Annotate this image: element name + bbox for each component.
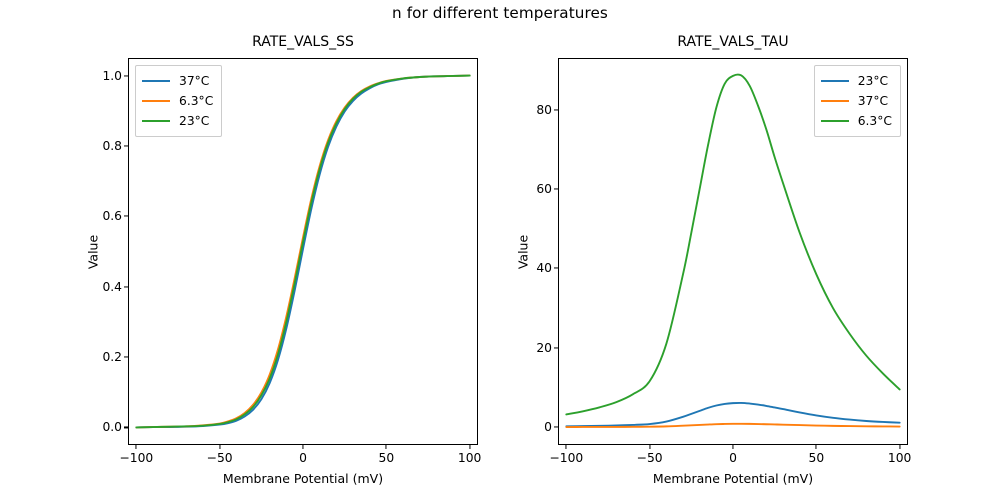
x-tick-mark: [136, 445, 137, 449]
y-tick-label: 0.8: [102, 139, 122, 153]
x-tick-label: 100: [458, 451, 481, 465]
x-tick-label: 0: [729, 451, 737, 465]
matplotlib-figure: n for different temperatures RATE_VALS_S…: [0, 0, 1000, 500]
x-tick-label: −100: [549, 451, 583, 465]
line-series-23C: [566, 403, 899, 426]
y-tick-label: 80: [536, 103, 552, 117]
left-legend[interactable]: 37°C6.3°C23°C: [135, 65, 222, 137]
axes-rate-vals-tau: RATE_VALS_TAU 020406080−100−50050100 Mem…: [558, 58, 908, 445]
y-tick-mark: [554, 188, 558, 189]
x-tick-mark: [386, 445, 387, 449]
left-ylabel: Value: [86, 234, 101, 268]
legend-label: 6.3°C: [179, 94, 213, 108]
x-tick-mark: [816, 445, 817, 449]
legend-color-swatch: [142, 100, 170, 102]
legend-entry: 6.3°C: [821, 111, 892, 131]
x-tick-label: 100: [888, 451, 911, 465]
x-tick-mark: [899, 445, 900, 449]
axes-right-title: RATE_VALS_TAU: [558, 34, 908, 50]
y-tick-mark: [554, 347, 558, 348]
right-legend[interactable]: 23°C37°C6.3°C: [814, 65, 901, 137]
x-tick-mark: [219, 445, 220, 449]
y-tick-label: 0.0: [102, 420, 122, 434]
y-tick-mark: [124, 145, 128, 146]
axes-rate-vals-ss: RATE_VALS_SS 0.00.20.40.60.81.0−100−5005…: [128, 58, 478, 445]
figure-suptitle: n for different temperatures: [0, 4, 1000, 22]
y-tick-mark: [554, 268, 558, 269]
y-tick-label: 20: [536, 341, 552, 355]
legend-color-swatch: [821, 120, 849, 122]
x-tick-label: −50: [207, 451, 233, 465]
y-tick-label: 0.2: [102, 350, 122, 364]
legend-entry: 37°C: [821, 91, 892, 111]
y-tick-label: 60: [536, 182, 552, 196]
x-tick-mark: [566, 445, 567, 449]
x-tick-label: −50: [637, 451, 663, 465]
y-tick-mark: [554, 109, 558, 110]
y-tick-mark: [554, 427, 558, 428]
right-ylabel: Value: [516, 234, 531, 268]
legend-color-swatch: [142, 80, 170, 82]
y-tick-label: 40: [536, 261, 552, 275]
legend-entry: 23°C: [142, 111, 213, 131]
x-tick-label: −100: [119, 451, 153, 465]
x-tick-label: 50: [379, 451, 395, 465]
x-tick-mark: [732, 445, 733, 449]
legend-entry: 37°C: [142, 71, 213, 91]
legend-label: 37°C: [858, 94, 888, 108]
legend-label: 23°C: [858, 74, 888, 88]
y-tick-mark: [124, 75, 128, 76]
y-tick-mark: [124, 427, 128, 428]
legend-color-swatch: [821, 80, 849, 82]
legend-entry: 6.3°C: [142, 91, 213, 111]
x-tick-mark: [302, 445, 303, 449]
y-tick-mark: [124, 286, 128, 287]
legend-color-swatch: [821, 100, 849, 102]
legend-color-swatch: [142, 120, 170, 122]
legend-label: 23°C: [179, 114, 209, 128]
y-tick-label: 0: [544, 420, 552, 434]
y-tick-mark: [124, 216, 128, 217]
x-tick-mark: [469, 445, 470, 449]
right-xlabel: Membrane Potential (mV): [558, 471, 908, 486]
x-tick-label: 50: [809, 451, 825, 465]
x-tick-mark: [649, 445, 650, 449]
legend-label: 37°C: [179, 74, 209, 88]
left-xlabel: Membrane Potential (mV): [128, 471, 478, 486]
legend-entry: 23°C: [821, 71, 892, 91]
y-tick-label: 1.0: [102, 69, 122, 83]
y-tick-mark: [124, 356, 128, 357]
y-tick-label: 0.4: [102, 280, 122, 294]
axes-left-title: RATE_VALS_SS: [128, 34, 478, 50]
legend-label: 6.3°C: [858, 114, 892, 128]
y-tick-label: 0.6: [102, 209, 122, 223]
x-tick-label: 0: [299, 451, 307, 465]
